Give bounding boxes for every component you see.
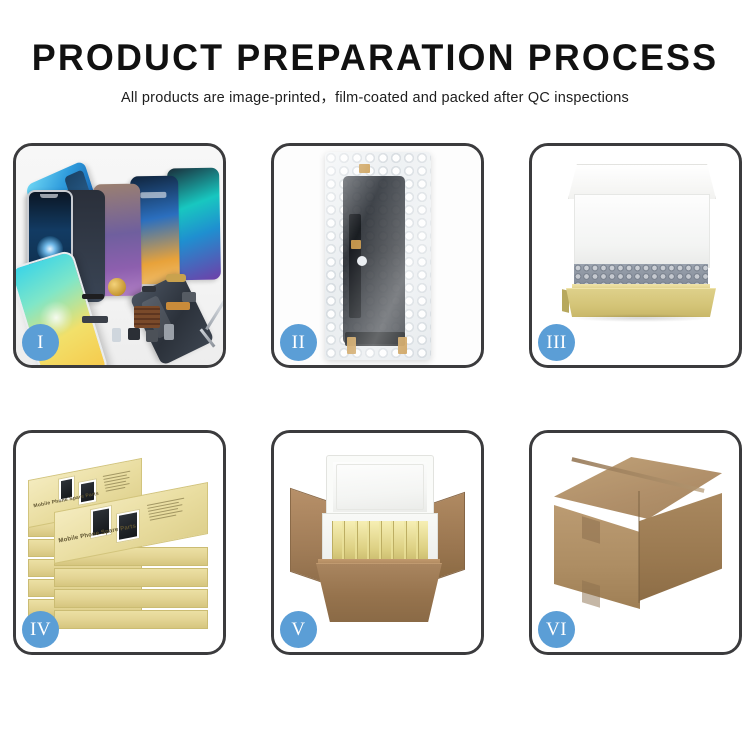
box-stack-graphic: Mobile Phone Spare Parts Mobile Phone Sp… [24,447,220,637]
page-header: PRODUCT PREPARATION PROCESS All products… [0,0,750,107]
part-logic-board-graphic [134,306,160,328]
step-badge-6: VI [538,611,575,648]
part-vibrator-graphic [108,278,126,296]
part-connector-graphic [142,286,156,292]
box-front-panel-graphic [566,288,716,317]
step-badge-5: V [280,611,317,648]
page-title: PRODUCT PREPARATION PROCESS [11,38,739,78]
bag-sheen-overlay [325,152,431,360]
tweezers-icon [205,300,223,330]
process-step-4: Mobile Phone Spare Parts Mobile Phone Sp… [13,430,226,655]
stacked-box-r4 [54,610,208,629]
process-step-2: II [271,143,484,368]
foam-sheet-graphic [574,194,710,268]
bubble-wrap-bag-graphic [325,152,431,360]
part-antenna-graphic [82,316,108,323]
carton-front-graphic [316,563,442,622]
yellow-boxes-inside-graphic [332,521,428,561]
part-button-graphic [164,324,174,340]
process-step-5: V [271,430,484,655]
carton-tape-lower-graphic [582,580,600,608]
styrofoam-lid-graphic [326,455,434,519]
process-step-3: III [529,143,742,368]
carton-vertical-edge-graphic [638,491,640,603]
part-flex-cable-2-graphic [166,302,190,310]
part-speaker-graphic [82,294,104,299]
part-camera-graphic [112,328,121,342]
part-chip-graphic [128,328,140,340]
page-subtitle: All products are image-printed，film-coat… [0,89,750,107]
process-step-grid: I II [13,143,737,688]
box-shadow-graphic [572,314,710,322]
part-module-graphic [146,330,158,342]
part-bracket-graphic [182,292,196,302]
step-badge-2: II [280,324,317,361]
part-flex-cable-graphic [166,274,186,282]
step-badge-1: I [22,324,59,361]
process-step-1: I [13,143,226,368]
stacked-box-r2 [54,568,208,587]
step-badge-3: III [538,324,575,361]
process-step-6: VI [529,430,742,655]
step-badge-4: IV [22,611,59,648]
product-preparation-page: PRODUCT PREPARATION PROCESS All products… [0,0,750,750]
stacked-box-r3 [54,589,208,608]
